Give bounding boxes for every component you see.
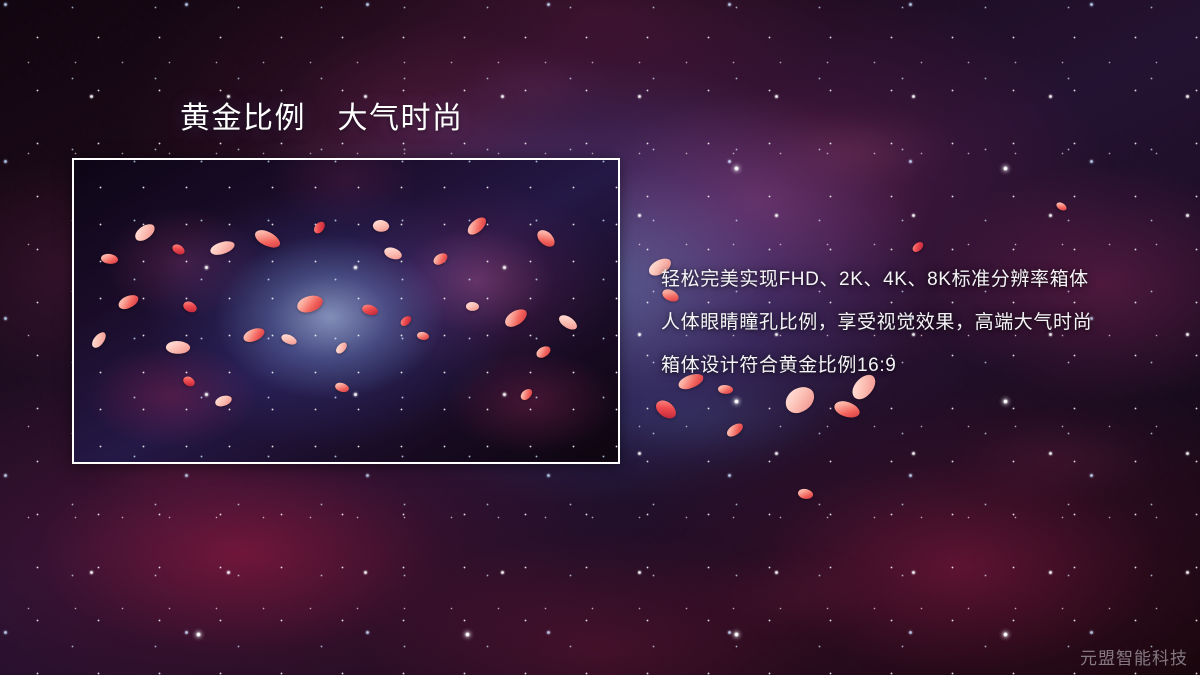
photo-petal-14: [361, 302, 380, 318]
scene-petal-6: [782, 384, 818, 416]
photo-petal-17: [502, 307, 530, 330]
photo-petal-9: [383, 244, 404, 262]
body-line-3: 箱体设计符合黄金比例16:9: [661, 344, 1181, 387]
slide-canvas: 黄金比例 大气时尚 轻松完美实现FHD、2K、4K、8K标准分辨率箱体 人体眼睛…: [0, 0, 1200, 675]
scene-petal-3: [653, 396, 679, 422]
photo-petal-10: [432, 251, 450, 266]
watermark-logo-text: 元盟智能科技: [1080, 644, 1188, 669]
photo-petal-23: [334, 341, 349, 355]
photo-petal-7: [464, 215, 489, 237]
photo-petal-28: [334, 381, 351, 395]
photo-petal-2: [100, 252, 119, 266]
scene-petal-9: [797, 487, 815, 502]
photo-petal-3: [209, 239, 236, 256]
scene-petal-5: [725, 422, 746, 439]
scene-petal-10: [911, 241, 925, 254]
body-line-1: 轻松完美实现FHD、2K、4K、8K标准分辨率箱体: [661, 258, 1181, 301]
photo-petal-12: [181, 299, 198, 315]
photo-petal-16: [465, 301, 480, 313]
photo-petal-29: [519, 387, 535, 402]
photo-inner: [74, 160, 618, 462]
framed-photo: [72, 158, 620, 464]
photo-petal-27: [215, 394, 233, 407]
body-text-block: 轻松完美实现FHD、2K、4K、8K标准分辨率箱体 人体眼睛瞳孔比例，享受视觉效…: [661, 258, 1181, 387]
photo-petal-layer: [74, 160, 618, 462]
photo-petal-18: [557, 312, 579, 333]
photo-petal-21: [241, 326, 265, 343]
photo-petal-1: [171, 241, 187, 256]
scene-petal-7: [832, 397, 862, 422]
photo-petal-0: [132, 222, 158, 244]
photo-petal-26: [181, 375, 196, 390]
photo-petal-19: [89, 330, 109, 350]
photo-petal-25: [535, 345, 553, 360]
photo-petal-20: [166, 340, 192, 356]
body-line-2: 人体眼睛瞳孔比例，享受视觉效果，高端大气时尚: [661, 301, 1181, 344]
photo-petal-22: [280, 332, 298, 348]
photo-petal-5: [312, 220, 328, 235]
photo-petal-13: [296, 294, 324, 313]
slide-title: 黄金比例 大气时尚: [180, 101, 464, 136]
photo-petal-24: [416, 330, 430, 342]
photo-petal-8: [535, 227, 558, 251]
photo-petal-4: [252, 226, 282, 252]
photo-petal-15: [399, 315, 413, 328]
scene-petal-11: [1055, 200, 1068, 212]
photo-petal-11: [116, 293, 140, 311]
photo-petal-6: [372, 218, 391, 234]
